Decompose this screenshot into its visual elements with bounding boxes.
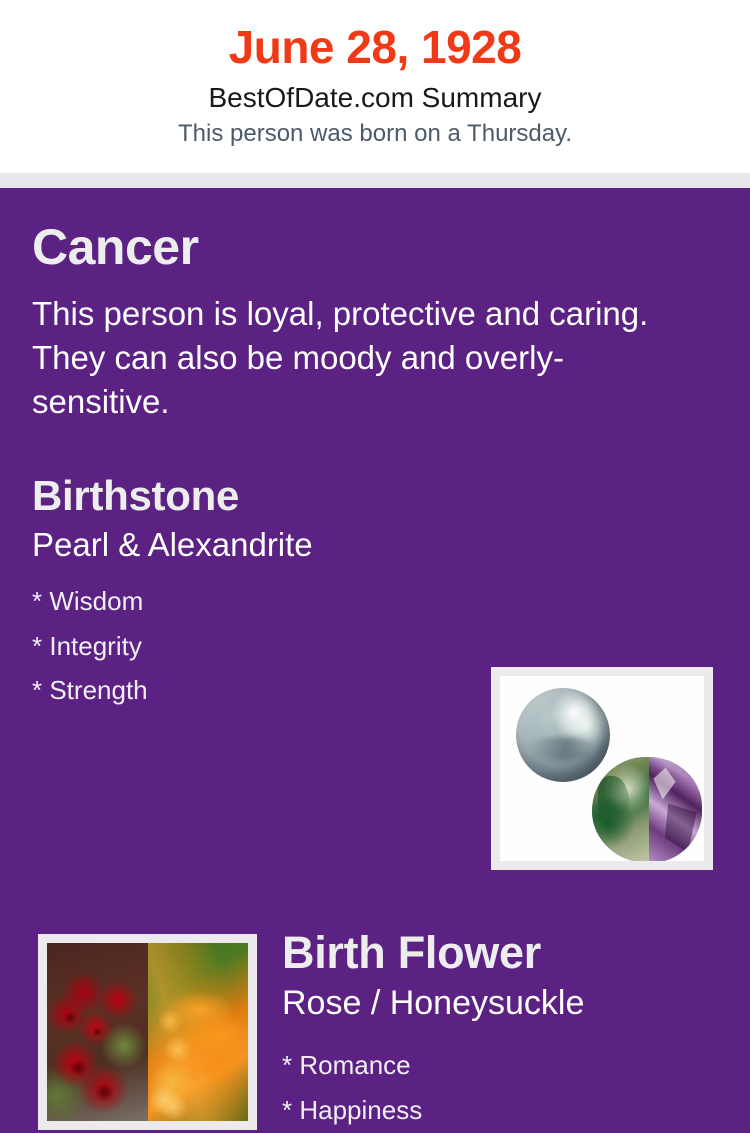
details-panel: Cancer This person is loyal, protective …: [0, 188, 750, 1000]
birth-flower-value: Rose / Honeysuckle: [282, 986, 584, 1020]
summary-card: June 28, 1928 BestOfDate.com Summary Thi…: [0, 0, 750, 1000]
header-divider: [0, 173, 750, 188]
birth-flower-trait-list: * Romance * Happiness: [282, 1043, 422, 1133]
birthstone-trait-list: * Wisdom * Integrity * Strength: [32, 579, 148, 713]
birth-flower-image-frame: [38, 934, 257, 1130]
list-item: * Happiness: [282, 1088, 422, 1133]
list-item: * Romance: [282, 1043, 422, 1088]
list-item: * Strength: [32, 668, 148, 713]
birthstone-image-frame: [491, 667, 713, 870]
alexandrite-gem-icon: [592, 757, 702, 861]
honeysuckle-photo-half: [148, 943, 249, 1121]
birthstone-image: [500, 676, 704, 861]
birth-flower-title: Birth Flower: [282, 930, 541, 975]
page-title: June 28, 1928: [0, 0, 750, 73]
zodiac-sign-title: Cancer: [32, 222, 199, 272]
card-header: June 28, 1928 BestOfDate.com Summary Thi…: [0, 0, 750, 173]
zodiac-description: This person is loyal, protective and car…: [32, 292, 652, 424]
birthstone-value: Pearl & Alexandrite: [32, 528, 313, 561]
list-item: * Wisdom: [32, 579, 148, 624]
list-item: * Integrity: [32, 624, 148, 669]
birth-weekday-note: This person was born on a Thursday.: [0, 114, 750, 148]
alexandrite-faceted-half: [649, 757, 702, 861]
red-roses-photo-half: [47, 943, 148, 1121]
birthstone-title: Birthstone: [32, 475, 239, 517]
site-summary-label: BestOfDate.com Summary: [0, 73, 750, 114]
alexandrite-rough-half: [592, 757, 649, 861]
birth-flower-image: [47, 943, 248, 1121]
